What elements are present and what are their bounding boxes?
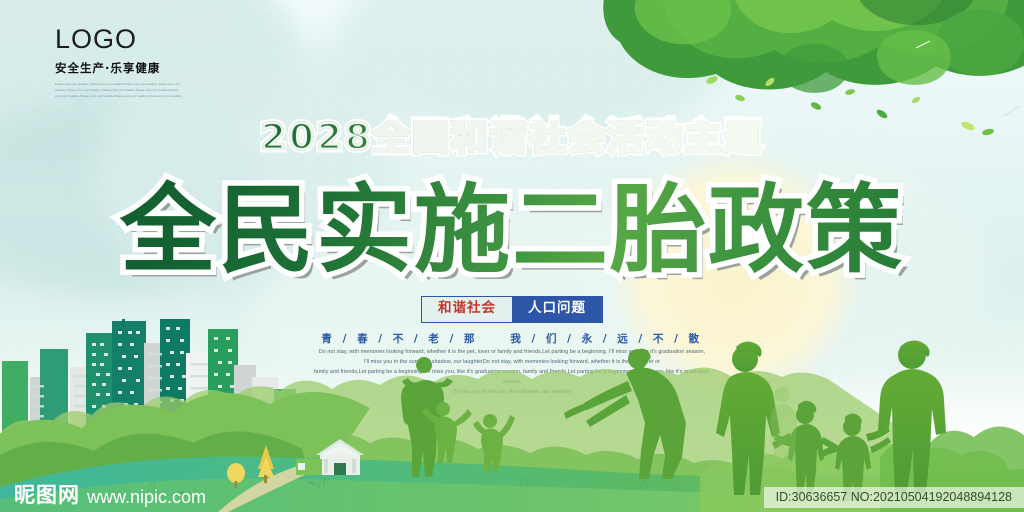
tag-harmonious-society[interactable]: 和谐社会 <box>422 297 512 322</box>
watermark: 昵图网 www.nipic.com <box>14 485 206 506</box>
logo-block: LOGO 安全生产·乐享健康 Please enter your headlin… <box>55 26 183 100</box>
playing-child <box>473 414 515 472</box>
watermark-cn: 昵图网 <box>14 485 80 506</box>
logo-fine-print: Please enter your headline. Please enter… <box>55 82 183 100</box>
image-id-bar: ID:30636657 NO:20210504192048894128 <box>764 487 1024 509</box>
family-father <box>866 340 946 493</box>
watermark-url: www.nipic.com <box>87 488 206 506</box>
page-title: 全民实施二胎政策 <box>0 178 1024 284</box>
tag-group: 和谐社会 人口问题 <box>421 296 603 323</box>
tag-population-issue[interactable]: 人口问题 <box>512 297 602 322</box>
logo-slogan: 安全生产·乐享健康 <box>55 60 183 76</box>
poster-canvas: LOGO 安全生产·乐享健康 Please enter your headlin… <box>0 0 1024 512</box>
reaching-adult <box>564 349 686 479</box>
logo-text: LOGO <box>55 26 183 53</box>
headline-block: 全民实施二胎政策 全民实施二胎政策 全民实施二胎政策 <box>0 178 1024 298</box>
page-subtitle: 2028全国和谐社会活动主题 <box>0 120 1024 156</box>
